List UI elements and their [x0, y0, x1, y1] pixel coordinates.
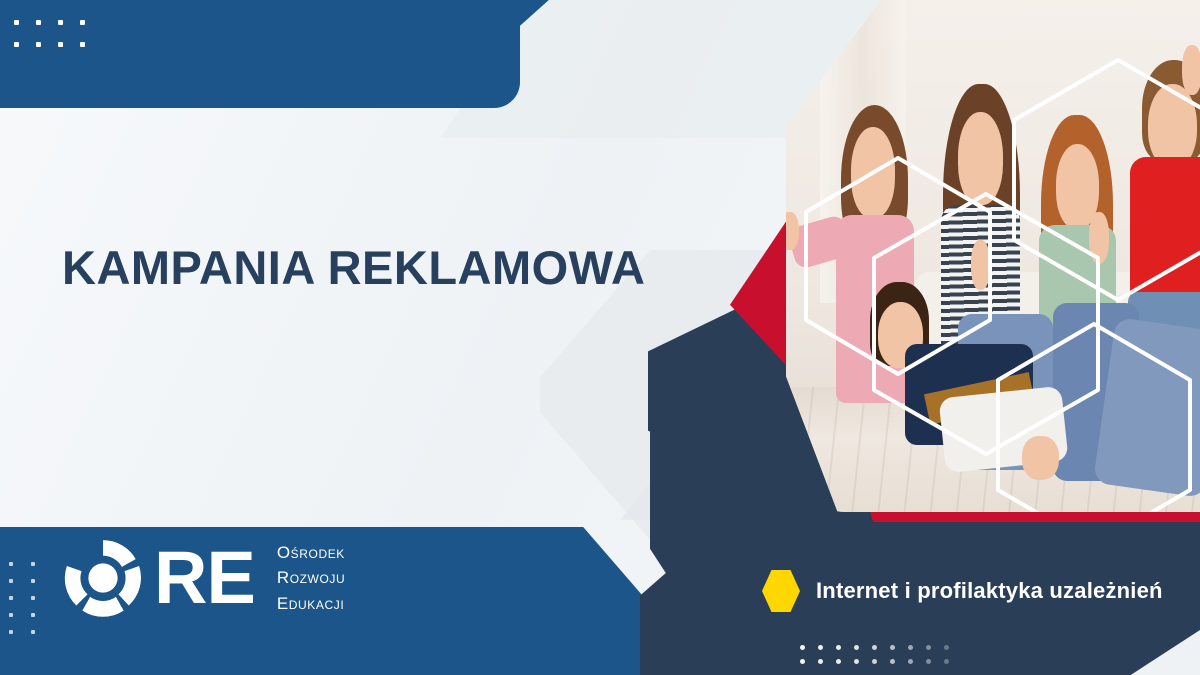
hero-photo [786, 0, 1200, 512]
hexagon-icon [762, 570, 800, 612]
ore-word-1: Ośrodek [277, 543, 345, 562]
ore-logo[interactable]: RE Ośrodek Rozwoju Edukacji [60, 535, 345, 621]
dot-grid-icon-top-left [14, 20, 102, 64]
caption-band-corner-cut [1120, 604, 1200, 675]
dot-grid-icon-left [9, 562, 53, 647]
photo-scene [786, 0, 1200, 512]
slide-canvas: KAMPANIA REKLAMOWA [0, 0, 1200, 675]
ore-full-name: Ośrodek Rozwoju Edukacji [277, 540, 345, 615]
ore-ring-icon [60, 535, 146, 621]
dot-grid-icon-bottom-right [800, 645, 962, 673]
caption-text: Internet i profilaktyka uzależnień [816, 578, 1163, 604]
caption-row: Internet i profilaktyka uzależnień [762, 570, 1163, 612]
ore-word-3: Edukacji [277, 594, 344, 613]
photo-teen-5 [846, 282, 1113, 501]
ore-word-2: Rozwoju [277, 568, 345, 587]
ore-initials: RE [154, 548, 255, 609]
page-title: KAMPANIA REKLAMOWA [62, 240, 645, 295]
